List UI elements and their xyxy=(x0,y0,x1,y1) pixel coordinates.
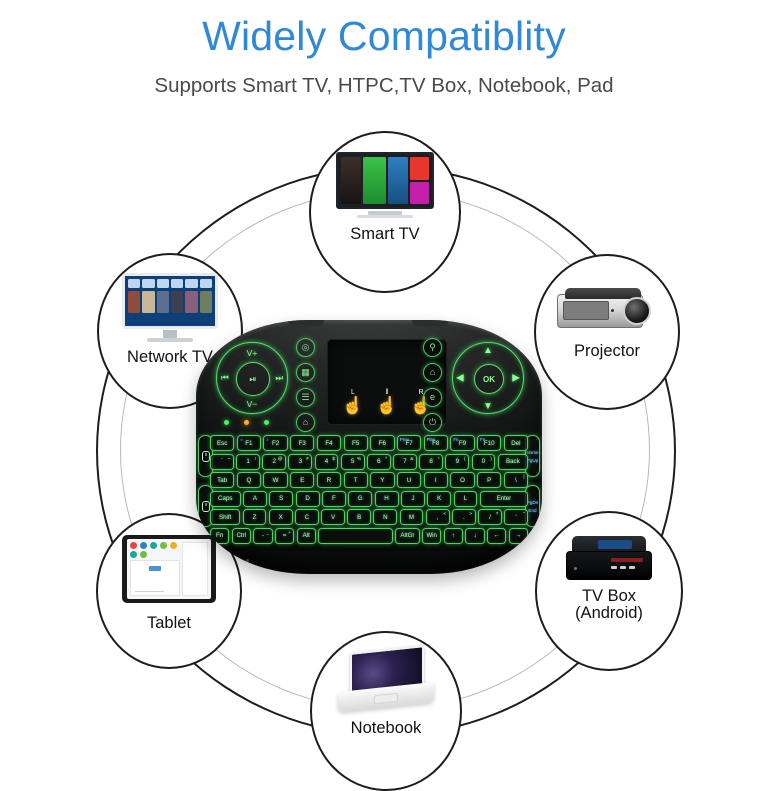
key-enter[interactable]: Enter xyxy=(480,491,528,507)
key-label: ' xyxy=(516,514,517,521)
key-1[interactable]: !1 xyxy=(236,454,260,470)
key-v[interactable]: V xyxy=(321,509,345,525)
key-label: F4 xyxy=(325,440,332,447)
key-row: CapsASDFGHJKLEnter xyxy=(210,491,528,507)
key-shift-label: * xyxy=(438,456,440,461)
left-icon-button-4[interactable]: ⌂ xyxy=(296,413,315,432)
key-win[interactable]: Win xyxy=(422,528,441,544)
volume-up-label[interactable]: V+ xyxy=(247,348,258,358)
status-led-2 xyxy=(244,420,249,425)
key-label: M xyxy=(409,514,414,521)
left-icon-button-3[interactable]: ☰ xyxy=(296,388,315,407)
key-shift-label: " xyxy=(523,511,525,516)
key-f1[interactable]: ☼F1 xyxy=(237,435,261,451)
key-p[interactable]: P xyxy=(477,472,501,488)
power-icon[interactable]: ⏻ xyxy=(423,413,442,432)
key-label: Q xyxy=(246,477,251,484)
key-[interactable]: += xyxy=(275,528,294,544)
hand-pointer-icon: ☝ xyxy=(376,397,397,414)
key-[interactable]: ← xyxy=(487,528,506,544)
tv-box-icon xyxy=(537,513,681,582)
node-smart-tv[interactable]: Smart TV xyxy=(309,131,461,293)
key-i[interactable]: I xyxy=(424,472,448,488)
key-shift-label: ! xyxy=(255,456,256,461)
key-row: FnCtrl_-+=AltAltGrWin↑↓←→ xyxy=(210,528,528,544)
key-label: F2 xyxy=(272,440,279,447)
key-label: P xyxy=(487,477,491,484)
key-f10[interactable]: FnF10 xyxy=(477,435,501,451)
node-tv-box[interactable]: TV Box (Android) xyxy=(535,511,683,671)
status-led-group xyxy=(224,420,269,425)
compatibility-infographic: Widely Compatiblity Supports Smart TV, H… xyxy=(0,0,768,768)
node-label: Smart TV xyxy=(350,226,419,243)
key-label: F10 xyxy=(484,440,495,447)
node-label: Projector xyxy=(574,343,640,360)
dpad-down-icon[interactable]: ▼ xyxy=(483,401,493,412)
key-f3[interactable]: F3 xyxy=(290,435,314,451)
key-row: ShiftZXCVBNM<,>.?/"' xyxy=(210,509,528,525)
key-shift-label: | xyxy=(523,474,524,479)
dpad-up-icon[interactable]: ▲ xyxy=(483,345,493,356)
key-label: 9 xyxy=(456,458,459,465)
touchpad-left-click[interactable]: L ☝ xyxy=(342,389,363,414)
key-label: R xyxy=(327,477,331,484)
media-control-pad[interactable]: V+ V− ⏮ ⏭ ⏯ xyxy=(216,342,288,414)
status-led-3 xyxy=(264,420,269,425)
key-label: 3 xyxy=(299,458,302,465)
key-secondary-label: Fn xyxy=(480,437,485,442)
key-back[interactable]: Back xyxy=(498,454,528,470)
key-label: F5 xyxy=(352,440,359,447)
touchpad-middle-click[interactable]: ‖ ☝ xyxy=(376,389,397,414)
key-label: F1 xyxy=(245,440,252,447)
key-5[interactable]: %5 xyxy=(341,454,365,470)
key-[interactable]: >. xyxy=(452,509,476,525)
key-6[interactable]: ^6 xyxy=(367,454,391,470)
end-label: End xyxy=(528,508,536,513)
key-f[interactable]: F xyxy=(322,491,346,507)
key-x[interactable]: X xyxy=(269,509,293,525)
key-label: Esc xyxy=(217,440,227,447)
key-label: V xyxy=(331,514,335,521)
key-secondary-label: Prev xyxy=(400,437,409,442)
key-f2[interactable]: ♪F2 xyxy=(263,435,287,451)
key-a[interactable]: A xyxy=(243,491,267,507)
page-title: Widely Compatiblity xyxy=(0,14,768,60)
key-label: J xyxy=(411,495,414,502)
key-l[interactable]: L xyxy=(454,491,478,507)
node-projector[interactable]: Projector xyxy=(534,254,680,410)
key-label: Caps xyxy=(218,495,232,502)
key-t[interactable]: T xyxy=(344,472,368,488)
key-f5[interactable]: F5 xyxy=(344,435,368,451)
key-h[interactable]: H xyxy=(375,491,399,507)
key-label: \ xyxy=(515,477,517,484)
key-label: 5 xyxy=(351,458,354,465)
key-label: 0 xyxy=(482,458,485,465)
key-space[interactable] xyxy=(318,528,393,544)
key-label: C xyxy=(305,514,309,521)
key-caps[interactable]: Caps xyxy=(210,491,241,507)
key-row: ~`!1@2#3$4%5^6&7*8(9)0Back xyxy=(210,454,528,470)
key-matrix[interactable]: Esc☼F1♪F2F3F4F5F6PrevF7PlayF8FnF9FnF10De… xyxy=(210,435,528,547)
key-label: Back xyxy=(506,458,520,465)
key-[interactable]: ↑ xyxy=(444,528,463,544)
mouse-icon xyxy=(202,451,210,462)
key-4[interactable]: $4 xyxy=(315,454,339,470)
key-label: H xyxy=(384,495,388,502)
key-label: U xyxy=(407,477,411,484)
key-o[interactable]: O xyxy=(450,472,474,488)
dpad-right-icon[interactable]: ▶ xyxy=(512,373,520,384)
key-shift-label: # xyxy=(306,456,309,461)
key-m[interactable]: M xyxy=(400,509,424,525)
home-icon[interactable]: ⌂ xyxy=(423,363,442,382)
key-del[interactable]: Del xyxy=(504,435,528,451)
key-shift-label: > xyxy=(470,511,473,516)
key-altgr[interactable]: AltGr xyxy=(395,528,419,544)
key-shift-label: @ xyxy=(278,456,283,461)
key-d[interactable]: D xyxy=(296,491,320,507)
key-label: 1 xyxy=(246,458,249,465)
hand-pointer-icon: ☝ xyxy=(342,397,363,414)
key-[interactable]: "' xyxy=(504,509,528,525)
node-notebook[interactable]: Notebook xyxy=(310,631,462,791)
home-label: Home xyxy=(526,450,538,455)
key-n[interactable]: N xyxy=(373,509,397,525)
desktop-monitor-icon xyxy=(99,255,241,342)
key-label: ← xyxy=(494,532,500,539)
dpad-ok-button[interactable]: OK xyxy=(474,364,504,394)
key-esc[interactable]: Esc xyxy=(210,435,234,451)
key-s[interactable]: S xyxy=(269,491,293,507)
key-alt[interactable]: Alt xyxy=(297,528,316,544)
mini-wireless-keyboard[interactable]: V+ V− ⏮ ⏭ ⏯ ◎ ▦ ☰ ⌂ L ☝ ‖ ☝ xyxy=(196,320,542,574)
key-z[interactable]: Z xyxy=(243,509,267,525)
projector-icon xyxy=(536,256,678,330)
left-icon-button-column[interactable]: ◎ ▦ ☰ ⌂ xyxy=(296,338,315,432)
key-label: 7 xyxy=(403,458,406,465)
key-label: = xyxy=(283,532,287,539)
directional-pad[interactable]: ▲ ▼ ◀ ▶ OK xyxy=(452,342,524,414)
key-row: Esc☼F1♪F2F3F4F5F6PrevF7PlayF8FnF9FnF10De… xyxy=(210,435,528,451)
key-secondary-label: ♪ xyxy=(266,437,268,442)
volume-down-label[interactable]: V− xyxy=(247,399,258,409)
key-secondary-label: Fn xyxy=(453,437,458,442)
key-label: → xyxy=(515,532,521,539)
key-label: Z xyxy=(253,514,257,521)
key-f8[interactable]: PlayF8 xyxy=(424,435,448,451)
key-row: TabQWERTYUIOP|\ xyxy=(210,472,528,488)
laptop-icon xyxy=(312,633,460,711)
key-ctrl[interactable]: Ctrl xyxy=(232,528,251,544)
key-label: X xyxy=(279,514,283,521)
key-shift-label: _ xyxy=(267,530,270,535)
key-label: ↓ xyxy=(473,532,476,539)
television-icon xyxy=(311,133,459,218)
key-label: O xyxy=(460,477,465,484)
key-[interactable]: |\ xyxy=(504,472,528,488)
key-7[interactable]: &7 xyxy=(393,454,417,470)
key-j[interactable]: J xyxy=(401,491,425,507)
key-[interactable]: ↓ xyxy=(465,528,484,544)
key-label: F6 xyxy=(379,440,386,447)
status-led-1 xyxy=(224,420,229,425)
key-label: G xyxy=(358,495,363,502)
node-label: Notebook xyxy=(351,720,422,737)
key-[interactable]: → xyxy=(509,528,528,544)
key-9[interactable]: (9 xyxy=(445,454,469,470)
middle-click-label: ‖ xyxy=(386,389,389,396)
node-label: TV Box (Android) xyxy=(575,588,643,622)
key-shift-label: < xyxy=(443,511,446,516)
key-label: Alt xyxy=(303,532,310,539)
key-label: , xyxy=(437,514,439,521)
key-label: D xyxy=(305,495,309,502)
key-label: A xyxy=(253,495,257,502)
key-[interactable]: _- xyxy=(253,528,272,544)
key-e[interactable]: E xyxy=(290,472,314,488)
pgup-label: PgUp xyxy=(527,458,539,463)
key-f6[interactable]: F6 xyxy=(370,435,394,451)
key-label: Enter xyxy=(497,496,511,502)
key-label: W xyxy=(273,477,279,484)
key-f7[interactable]: PrevF7 xyxy=(397,435,421,451)
page-subtitle: Supports Smart TV, HTPC,TV Box, Notebook… xyxy=(0,74,768,98)
key-label: . xyxy=(463,514,465,521)
key-w[interactable]: W xyxy=(263,472,287,488)
key-label: F3 xyxy=(299,440,306,447)
key-k[interactable]: K xyxy=(427,491,451,507)
node-label: Tablet xyxy=(147,615,191,632)
key-shift-label: ) xyxy=(490,456,492,461)
key-u[interactable]: U xyxy=(397,472,421,488)
key-label: Del xyxy=(511,440,520,447)
key-[interactable]: <, xyxy=(426,509,450,525)
key-q[interactable]: Q xyxy=(237,472,261,488)
key-g[interactable]: G xyxy=(348,491,372,507)
key-shift-label: $ xyxy=(332,456,335,461)
key-label: 8 xyxy=(429,458,432,465)
key-f4[interactable]: F4 xyxy=(317,435,341,451)
key-label: - xyxy=(262,532,264,539)
key-label: ↑ xyxy=(452,532,455,539)
key-secondary-label: Play xyxy=(427,437,436,442)
key-label: L xyxy=(464,495,467,502)
keyboard-top-nub-right xyxy=(412,320,448,326)
key-r[interactable]: R xyxy=(317,472,341,488)
key-y[interactable]: Y xyxy=(370,472,394,488)
key-label: B xyxy=(357,514,361,521)
node-label: Network TV xyxy=(127,349,213,366)
key-label: E xyxy=(300,477,304,484)
search-icon[interactable]: ⚲ xyxy=(423,338,442,357)
key-label: Tab xyxy=(217,477,227,484)
key-label: Fn xyxy=(216,532,223,539)
key-c[interactable]: C xyxy=(295,509,319,525)
left-icon-button-2[interactable]: ▦ xyxy=(296,363,315,382)
key-label: Win xyxy=(426,532,437,539)
key-shift-label: ^ xyxy=(385,456,387,461)
key-label: 4 xyxy=(325,458,328,465)
key-label: K xyxy=(437,495,441,502)
key-[interactable]: ?/ xyxy=(478,509,502,525)
key-shift-label: ~ xyxy=(228,456,231,461)
pgdn-label: PgDn xyxy=(527,500,539,505)
key-label: Shift xyxy=(219,514,231,521)
key-shift-label: + xyxy=(288,530,291,535)
keyboard-screw-dot xyxy=(246,559,249,562)
key-label: N xyxy=(383,514,387,521)
key-secondary-label: ☼ xyxy=(240,437,244,442)
key-label: F xyxy=(332,495,336,502)
keyboard-top-nub-left xyxy=(288,320,324,326)
browser-icon[interactable]: e xyxy=(423,388,442,407)
key-label: / xyxy=(489,514,491,521)
key-shift-label: ? xyxy=(496,511,499,516)
key-fn[interactable]: Fn xyxy=(210,528,229,544)
key-2[interactable]: @2 xyxy=(262,454,286,470)
key-label: 6 xyxy=(377,458,380,465)
key-label: AltGr xyxy=(400,532,414,539)
key-label: F9 xyxy=(459,440,466,447)
key-tab[interactable]: Tab xyxy=(210,472,234,488)
next-track-icon[interactable]: ⏭ xyxy=(275,373,283,384)
mouse-icon xyxy=(202,501,210,512)
right-icon-button-column[interactable]: ⚲ ⌂ e ⏻ xyxy=(423,338,442,432)
key-label: ` xyxy=(221,458,223,465)
key-shift-label: % xyxy=(357,456,361,461)
key-label: I xyxy=(435,477,437,484)
left-icon-button-1[interactable]: ◎ xyxy=(296,338,315,357)
play-pause-icon[interactable]: ⏯ xyxy=(236,362,270,396)
key-label: Ctrl xyxy=(236,532,246,539)
key-label: S xyxy=(279,495,283,502)
key-8[interactable]: *8 xyxy=(419,454,443,470)
key-label: Y xyxy=(380,477,384,484)
key-shift-label: ( xyxy=(464,456,466,461)
key-label: T xyxy=(354,477,358,484)
left-click-label: L xyxy=(351,389,355,396)
key-0[interactable]: )0 xyxy=(472,454,496,470)
key-f9[interactable]: FnF9 xyxy=(450,435,474,451)
key-b[interactable]: B xyxy=(347,509,371,525)
previous-track-icon[interactable]: ⏮ xyxy=(221,373,229,384)
dpad-left-icon[interactable]: ◀ xyxy=(456,373,464,384)
key-shift-label: & xyxy=(410,456,413,461)
key-3[interactable]: #3 xyxy=(288,454,312,470)
key-shift[interactable]: Shift xyxy=(210,509,240,525)
key-[interactable]: ~` xyxy=(210,454,234,470)
key-label: 2 xyxy=(272,458,275,465)
